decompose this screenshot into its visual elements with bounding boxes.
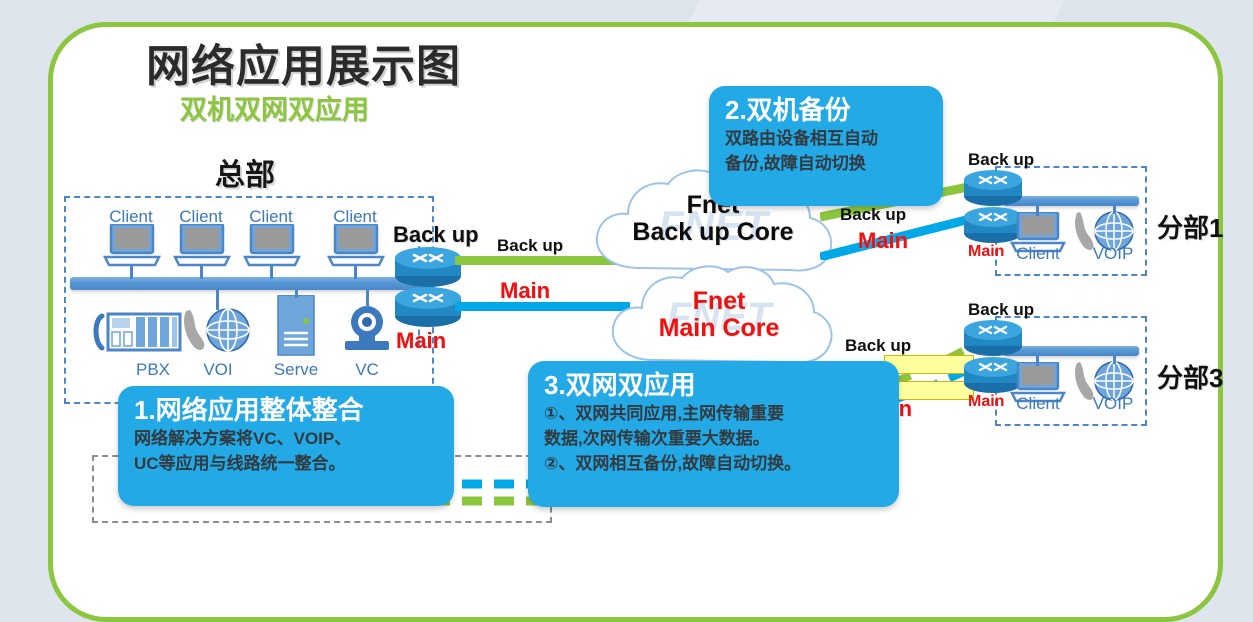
callout-3-line-2: 数据,次网传输次重要大数据。	[544, 426, 883, 451]
callout-1[interactable]: 1.网络应用整体整合 网络解决方案将VC、VOIP、 UC等应用与线路统一整合。	[118, 386, 454, 506]
pbx-rack-icon	[92, 308, 184, 356]
server-stub	[295, 290, 298, 298]
page-subtitle: 双机双网双应用	[180, 88, 369, 127]
callout-1-title: 1.网络应用整体整合	[134, 394, 438, 426]
client-label: Client	[332, 208, 378, 225]
branch1-title: 分部1	[1157, 208, 1223, 245]
branch1-client-stub	[1036, 204, 1039, 216]
callout-2-title: 2.双机备份	[725, 94, 927, 126]
client-laptop-icon	[173, 224, 231, 268]
main-core-line1: Fnet	[604, 288, 834, 315]
branch3-router-backup-label: Back up	[968, 300, 1034, 320]
voip-globe-icon	[180, 305, 256, 357]
diagram-canvas: 网络应用展示图 双机双网双应用 总部 Client Client Client	[0, 0, 1253, 573]
branch3-client-label: Client	[1015, 395, 1061, 412]
callout-3-title: 3.双网双应用	[544, 369, 883, 401]
client-label: Client	[248, 208, 294, 225]
callout-2-body: 双路由设备相互自动 备份,故障自动切换	[725, 126, 927, 176]
backup-core-line2: Back up Core	[590, 219, 836, 246]
server-tower-icon	[275, 295, 317, 357]
callout-1-line-2: UC等应用与线路统一整合。	[134, 451, 438, 476]
voip-stub	[216, 290, 219, 310]
callout-3[interactable]: 3.双网双应用 ①、双网共同应用,主网传输重要 数据,次网传输次重要大数据。 ②…	[528, 361, 899, 507]
main-core-label: Fnet Main Core	[604, 288, 834, 342]
branch1-router-backup-icon[interactable]	[961, 168, 1025, 208]
client-stub	[200, 265, 203, 279]
callout-1-body: 网络解决方案将VC、VOIP、 UC等应用与线路统一整合。	[134, 426, 438, 476]
branch3-backup-link-label: Back up	[845, 336, 911, 356]
hq-router-backup-icon[interactable]	[392, 245, 464, 289]
video-camera-icon	[341, 304, 393, 354]
hq-main-router-label: Main	[396, 328, 446, 354]
branch1-client-label: Client	[1015, 245, 1061, 262]
branch1-router-main-label: Main	[968, 243, 1004, 261]
callout-3-line-3: ②、双网相互备份,故障自动切换。	[544, 451, 883, 476]
branch3-title: 分部3	[1157, 358, 1223, 395]
client-stub	[354, 265, 357, 279]
callout-2-line-2: 备份,故障自动切换	[725, 151, 927, 176]
headquarters-title: 总部	[215, 150, 275, 194]
callout-2-line-1: 双路由设备相互自动	[725, 126, 927, 151]
branch1-voip-label: VOIP	[1090, 245, 1136, 262]
device-label: VOI	[193, 360, 243, 380]
callout-2[interactable]: 2.双机备份 双路由设备相互自动 备份,故障自动切换	[709, 86, 943, 206]
branch1-voip-stub	[1113, 204, 1116, 214]
client-stub	[270, 265, 273, 279]
hq-router-main-icon[interactable]	[392, 285, 464, 329]
device-label: PBX	[128, 360, 178, 380]
hq-backup-link-label: Back up	[497, 236, 563, 256]
callout-1-line-1: 网络解决方案将VC、VOIP、	[134, 426, 438, 451]
branch1-main-link-label: Main	[858, 228, 908, 254]
client-label: Client	[108, 208, 154, 225]
page-title: 网络应用展示图	[146, 30, 461, 94]
callout-3-line-1: ①、双网共同应用,主网传输重要	[544, 401, 883, 426]
vc-stub	[366, 290, 369, 307]
branch1-backup-link-label: Back up	[840, 205, 906, 225]
client-label: Client	[178, 208, 224, 225]
hq-main-link-label: Main	[500, 278, 550, 304]
client-laptop-icon	[243, 224, 301, 268]
callout-3-body: ①、双网共同应用,主网传输重要 数据,次网传输次重要大数据。 ②、双网相互备份,…	[544, 401, 883, 476]
device-label: VC	[342, 360, 392, 380]
client-stub	[130, 265, 133, 279]
branch3-router-main-label: Main	[968, 393, 1004, 411]
main-core-line2: Main Core	[604, 315, 834, 342]
client-laptop-icon	[103, 224, 161, 268]
device-label: Serve	[271, 360, 321, 380]
client-laptop-icon	[327, 224, 385, 268]
branch3-router-backup-icon[interactable]	[961, 318, 1025, 358]
branch1-router-backup-label: Back up	[968, 150, 1034, 170]
branch3-voip-stub	[1113, 354, 1116, 364]
branch3-voip-label: VOIP	[1090, 395, 1136, 412]
branch3-client-stub	[1036, 354, 1039, 366]
headquarters-bus-bar	[70, 277, 435, 290]
